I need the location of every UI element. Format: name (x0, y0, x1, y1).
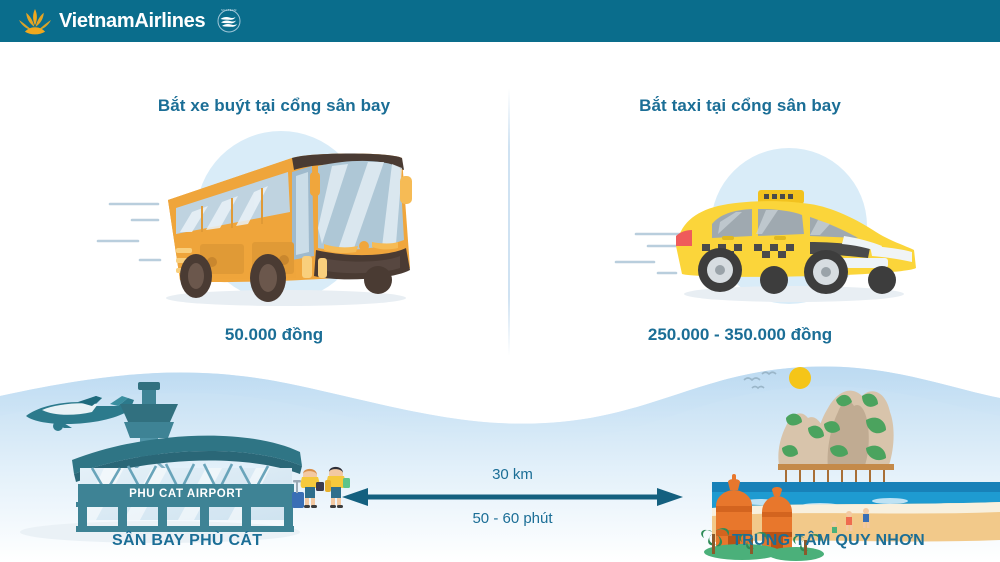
bus-option-title: Bắt xe buýt tại cổng sân bay (54, 96, 494, 116)
bus-price: 50.000 đồng (54, 325, 494, 345)
column-divider (508, 88, 510, 356)
origin-label: SÂN BAY PHÙ CÁT (112, 532, 262, 550)
taxi-illustration (614, 146, 964, 311)
destination-label: TRUNG TÂM QUY NHƠN (732, 532, 925, 550)
skyteam-icon: SKYTEAM (214, 6, 244, 36)
route-distance-value: 30 km (340, 466, 685, 483)
brand-logo[interactable]: VietnamAirlines SKYTEAM (18, 4, 244, 38)
svg-text:SKYTEAM: SKYTEAM (221, 9, 237, 12)
double-arrow-icon (342, 487, 683, 507)
brand-name: VietnamAirlines (59, 10, 205, 33)
taxi-option-title: Bắt taxi tại cổng sân bay (520, 96, 960, 116)
lotus-icon (18, 7, 52, 35)
airport-sign-text: PHU CAT AIRPORT (129, 488, 243, 500)
header-bar: VietnamAirlines SKYTEAM (0, 0, 1000, 42)
taxi-price: 250.000 - 350.000 đồng (520, 325, 960, 345)
route-duration-value: 50 - 60 phút (340, 510, 685, 527)
route-distance-block: 30 km 50 - 60 phút (340, 466, 685, 538)
infographic-page: VietnamAirlines SKYTEAM Bắt xe buýt tại … (0, 0, 1000, 562)
bus-illustration (96, 128, 456, 313)
